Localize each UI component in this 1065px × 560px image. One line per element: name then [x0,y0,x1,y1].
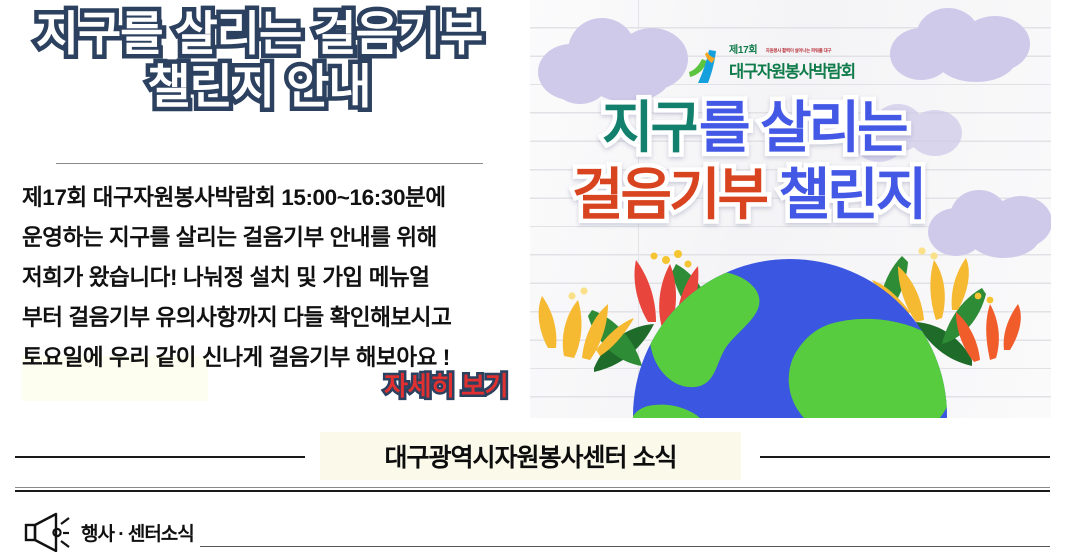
section-rule-left [15,456,305,458]
subcategory-row[interactable]: 행사 · 센터소식 [22,512,194,552]
earth-svg [530,228,1051,418]
divider-line-thin [15,487,1050,488]
section-double-divider [15,487,1050,492]
city-slogan: 자원봉사 활력이 살아나는 파워풀 대구 [766,44,832,57]
section-title-text: 대구광역시자원봉사센터 소식 [320,432,741,480]
divider-line-thick [15,490,1050,492]
poster-title-word-save: 를 살리는 [699,96,906,159]
cloud-shape [538,18,698,104]
section-header: 대구광역시자원봉사센터 소식 [0,432,1065,480]
article-left-column: 지구를 살리는 걸음기부 챌린지 안내 제17회 대구자원봉사박람회 15:00… [0,0,530,420]
subcategory-label: 행사 · 센터소식 [81,519,194,546]
event-poster-image[interactable]: 제17회 자원봉사 활력이 살아나는 파워풀 대구 대구자원봉사박람회 지구를 … [530,0,1051,418]
cloud-shape [890,8,1040,86]
megaphone-icon [22,512,78,552]
read-more-link[interactable]: 자세히 보기 [0,366,508,403]
article-body-text: 제17회 대구자원봉사박람회 15:00~16:30분에 운영하는 지구를 살리… [22,178,512,378]
page-title: 지구를 살리는 걸음기부 챌린지 안내 [0,8,518,113]
expo-logo-text: 제17회 자원봉사 활력이 살아나는 파워풀 대구 대구자원봉사박람회 [729,44,901,82]
poster-title-word-challenge: 챌린지 [766,163,924,226]
expo-logo: 제17회 자원봉사 활력이 살아나는 파워풀 대구 대구자원봉사박람회 [685,44,900,88]
poster-title-word-walkdonate: 걸음기부 [572,163,766,226]
expo-logo-mark [685,46,725,86]
title-divider [56,163,483,164]
expo-edition: 제17회 [729,44,757,57]
section-rule-right [760,456,1050,458]
poster-title-line1: 지구를 살리는 [602,98,906,158]
earth-illustration [530,228,1051,418]
poster-title-line2: 걸음기부 챌린지 [572,165,924,225]
newsletter-page: 지구를 살리는 걸음기부 챌린지 안내 제17회 대구자원봉사박람회 15:00… [0,0,1065,560]
subcategory-rule [200,546,1050,547]
poster-title-word-earth: 지구 [602,96,699,159]
expo-name: 대구자원봉사박람회 [729,63,901,82]
